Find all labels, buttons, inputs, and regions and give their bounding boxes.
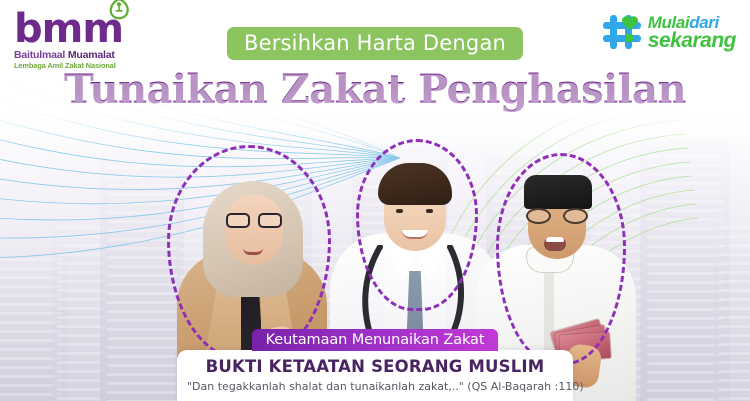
zakat-promo-banner: bmm Baitulmaal Muamalat Lembaga Amil Zak…	[0, 0, 750, 401]
footer-pill-label: Keutamaan Menunaikan Zakat	[252, 329, 498, 351]
green-dome-leaf-icon	[108, 0, 130, 20]
footer-quote: "Dan tegakkanlah shalat dan tunaikanlah …	[187, 380, 563, 393]
footer-card: BUKTI KETAATAN SEORANG MUSLIM "Dan tegak…	[177, 350, 573, 401]
mulai-dari-sekarang-logo[interactable]: Mulaidari sekarang	[601, 12, 736, 52]
word-sekarang: sekarang	[648, 30, 736, 51]
dashed-highlight-outline	[356, 139, 478, 311]
footer-title: BUKTI KETAATAN SEORANG MUSLIM	[187, 357, 563, 376]
campaign-wordmark: Mulaidari sekarang	[648, 14, 736, 51]
bmm-logo[interactable]: bmm Baitulmaal Muamalat Lembaga Amil Zak…	[14, 10, 134, 70]
page-title: Tunaikan Zakat Penghasilan	[64, 66, 686, 113]
hashtag-icon	[601, 12, 643, 52]
eyebrow-pill: Bersihkan Harta Dengan	[227, 27, 523, 60]
footer-banner: Keutamaan Menunaikan Zakat BUKTI KETAATA…	[177, 329, 573, 401]
